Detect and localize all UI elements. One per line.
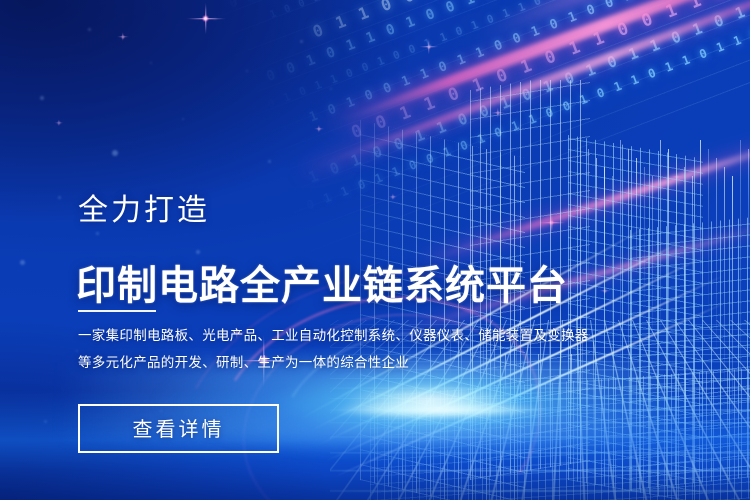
- hero-banner: 1 0 1 0 0 1 0 1 1 0 0 1 0 1 0 1 1 0 0 1 …: [0, 0, 750, 500]
- wireframe-filament: [740, 140, 741, 416]
- wireframe-filament: [716, 158, 717, 356]
- hero-eyebrow: 全力打造: [78, 196, 210, 226]
- wireframe-filament: [748, 149, 749, 269]
- hero-content: 全力打造 印制电路全产业链系统平台 一家集印制电路板、光电产品、工业自动化控制系…: [78, 0, 678, 500]
- hero-subtext: 一家集印制电路板、光电产品、工业自动化控制系统、仪器仪表、储能装置及变换器 等多…: [78, 322, 589, 376]
- sparkle-star-icon: [58, 122, 59, 123]
- wireframe-filament: [708, 149, 709, 321]
- dust-particle: [58, 196, 61, 199]
- wireframe-filament: [724, 167, 725, 391]
- hero-divider: [78, 310, 156, 312]
- wireframe-filament: [732, 176, 733, 426]
- dust-particle: [20, 260, 25, 265]
- dust-particle: [44, 420, 47, 423]
- wireframe-filament: [692, 176, 693, 296]
- view-details-button[interactable]: 查看详情: [78, 404, 279, 453]
- hero-headline: 印制电路全产业链系统平台: [76, 263, 568, 310]
- hero-subtext-line-1: 一家集印制电路板、光电产品、工业自动化控制系统、仪器仪表、储能装置及变换器: [78, 322, 589, 349]
- dust-particle: [40, 96, 44, 100]
- wireframe-filament: [700, 140, 701, 286]
- hero-subtext-line-2: 等多元化产品的开发、研制、生产为一体的综合性企业: [78, 349, 589, 376]
